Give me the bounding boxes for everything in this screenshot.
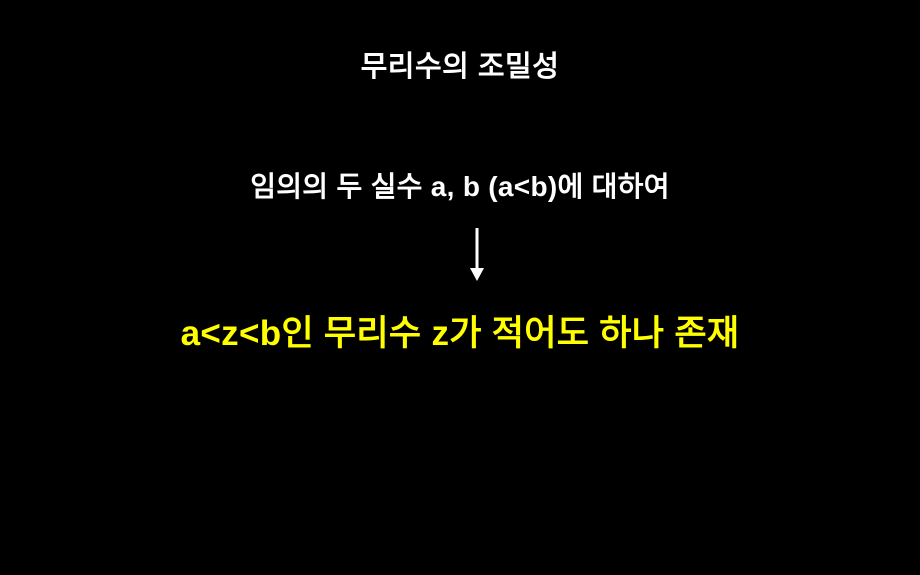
premise-statement: 임의의 두 실수 a, b (a<b)에 대하여 [0, 167, 920, 207]
arrow-down-icon [463, 228, 491, 284]
conclusion-statement: a<z<b인 무리수 z가 적어도 하나 존재 [0, 311, 920, 357]
slide-canvas: 무리수의 조밀성 임의의 두 실수 a, b (a<b)에 대하여 a<z<b인… [0, 0, 920, 575]
page-title: 무리수의 조밀성 [0, 47, 920, 87]
